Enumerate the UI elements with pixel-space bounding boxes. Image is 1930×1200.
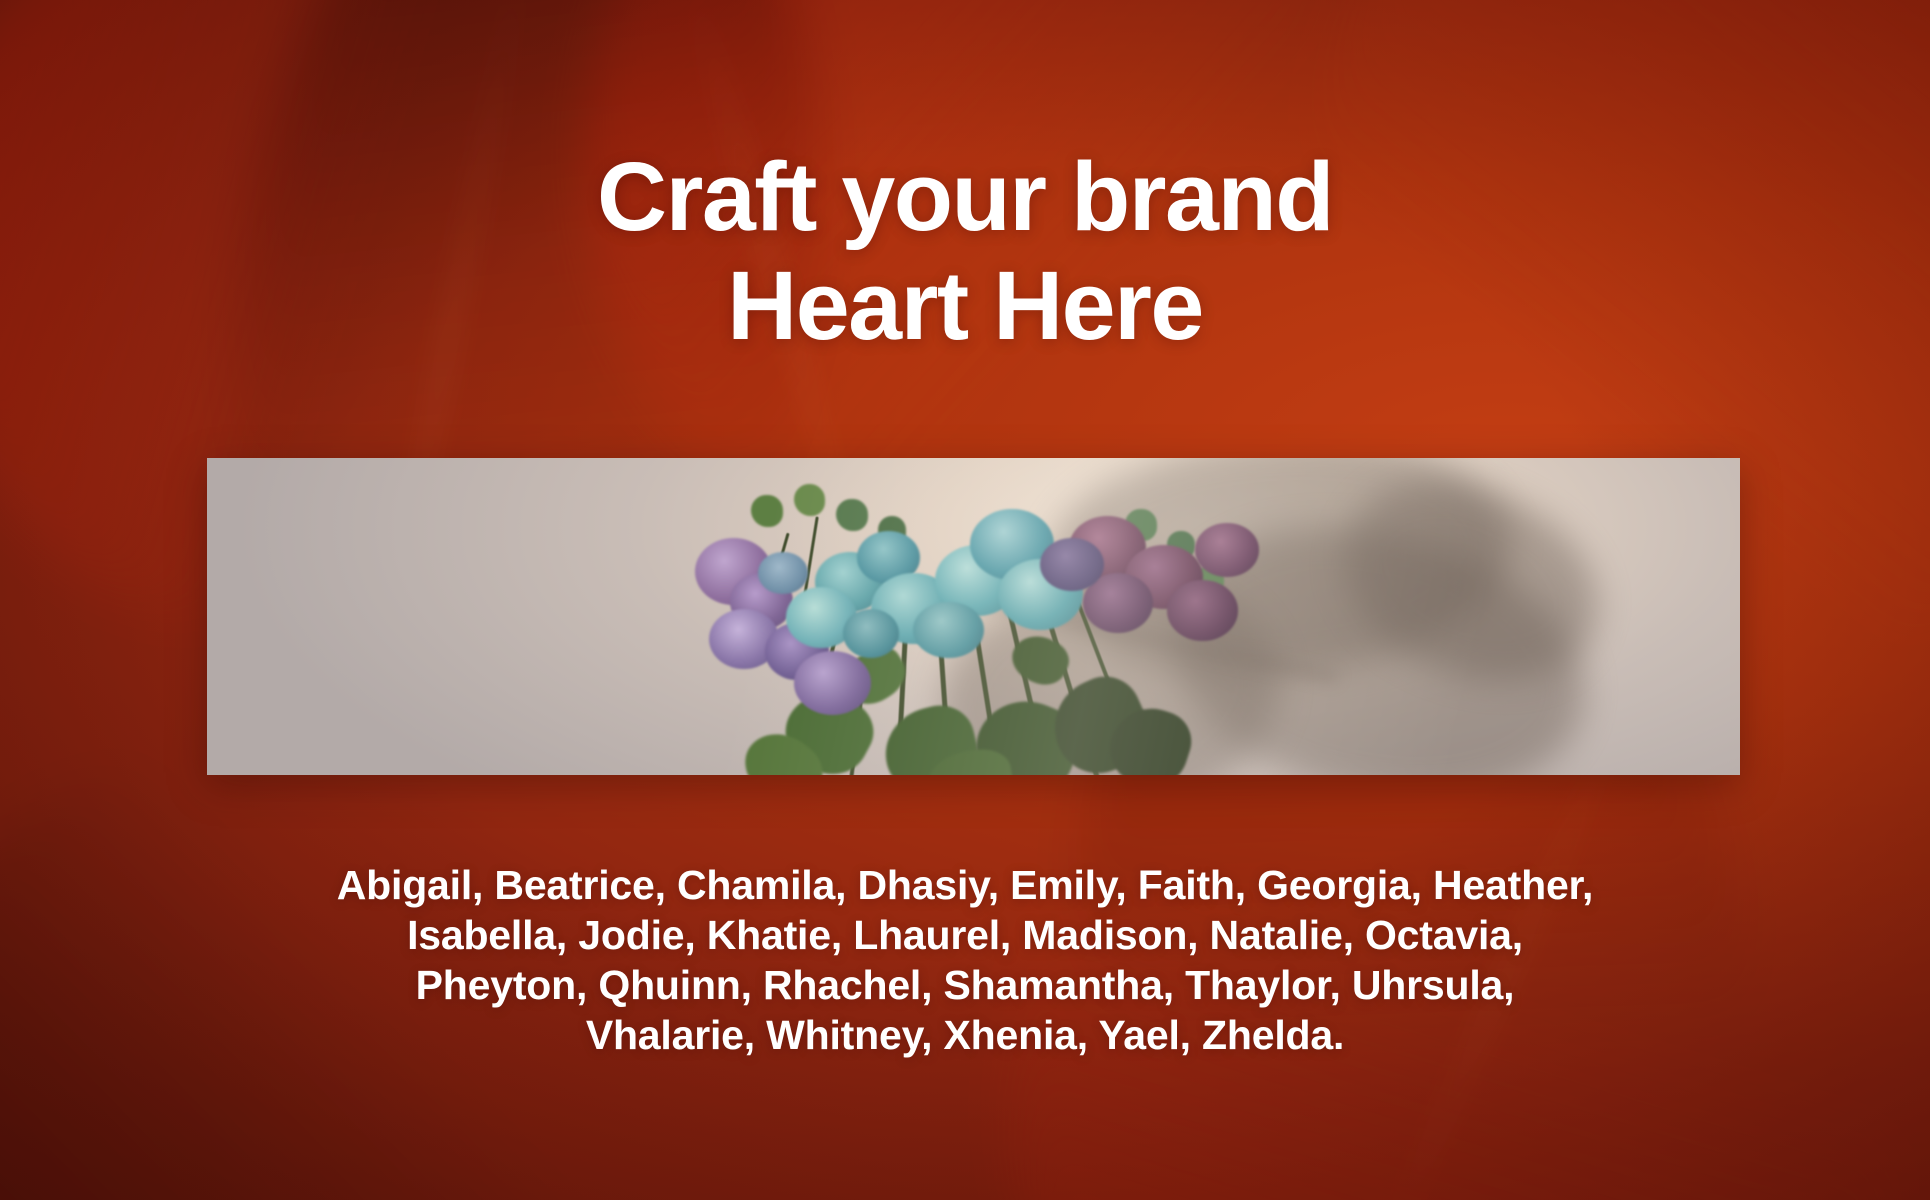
names-list: Abigail, Beatrice, Chamila, Dhasiy, Emil… <box>0 860 1930 1060</box>
photo-lighting-sheen <box>207 458 1740 775</box>
page-title: Craft your brand Heart Here <box>0 143 1930 360</box>
slide-canvas: Craft your brand Heart Here <box>0 0 1930 1200</box>
bouquet-photo <box>207 458 1740 775</box>
